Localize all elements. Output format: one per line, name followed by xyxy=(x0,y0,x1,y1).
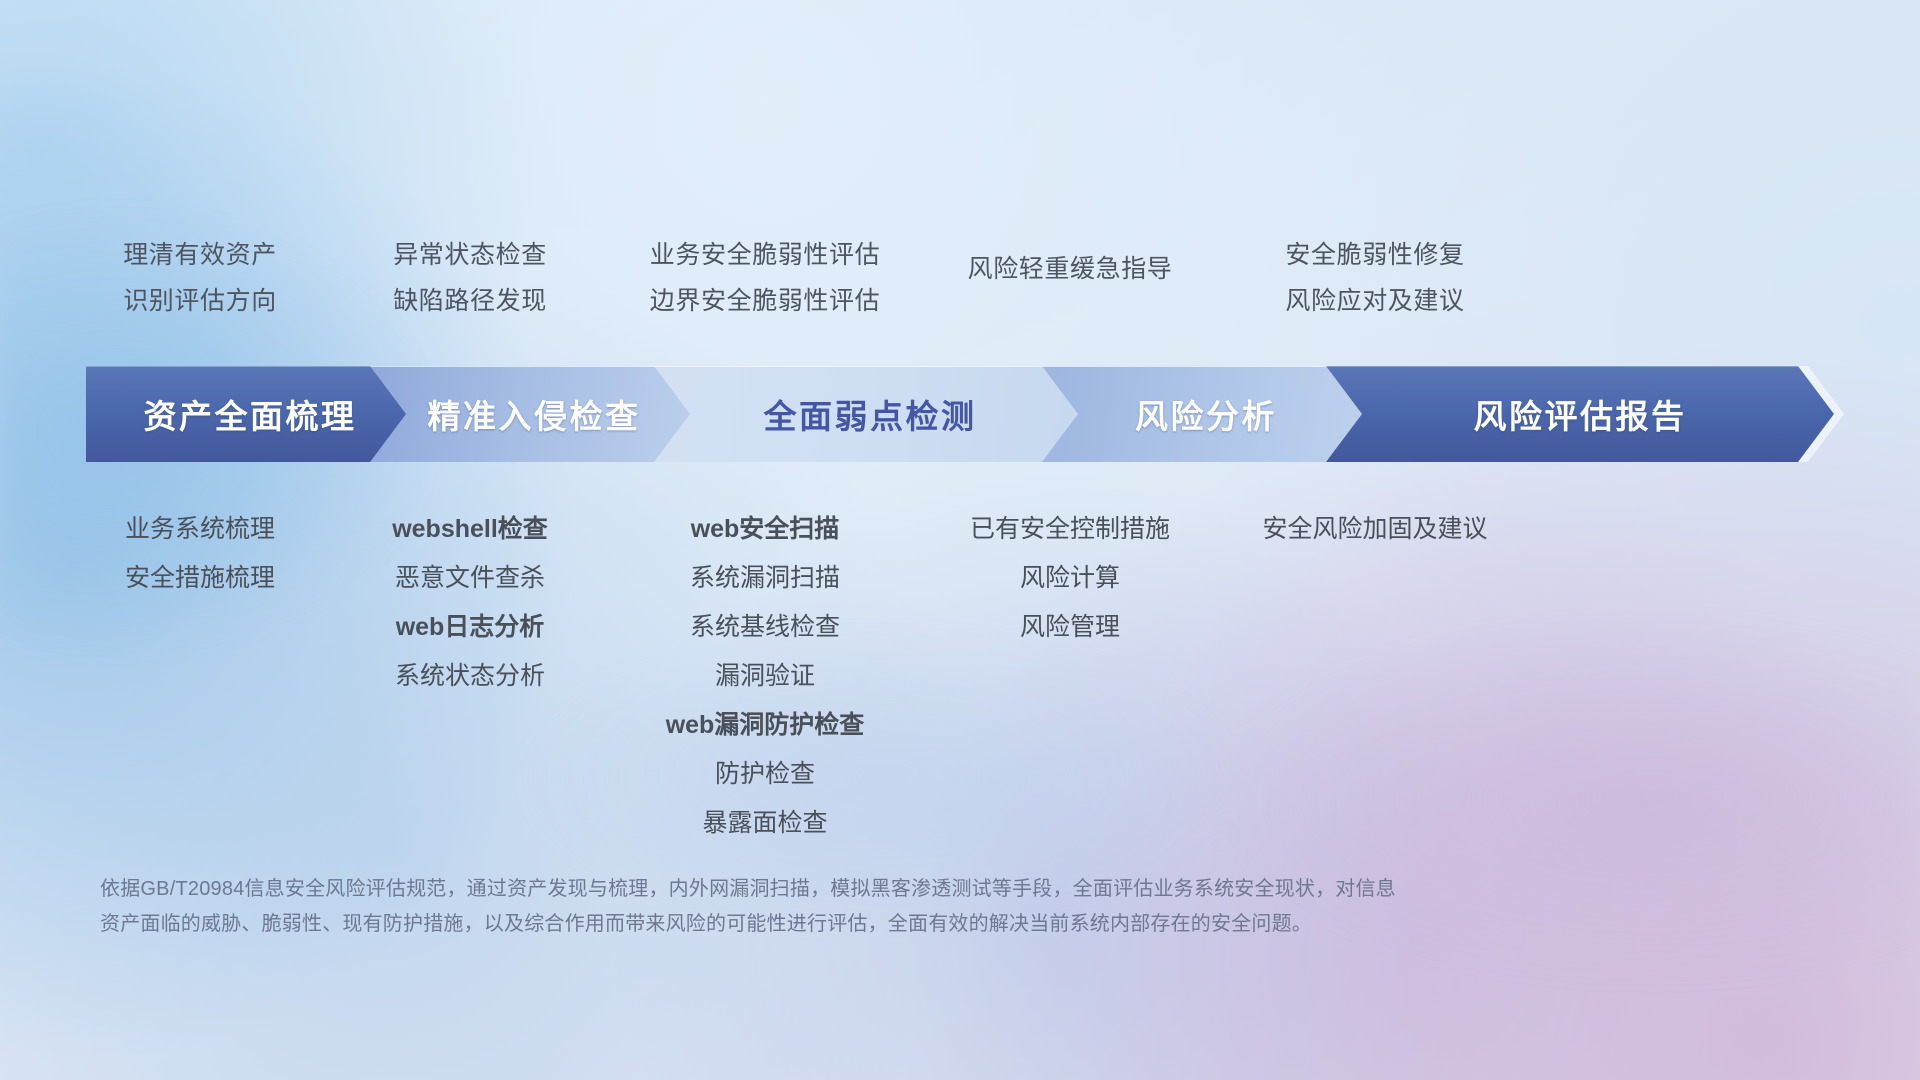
bottom-labels-asset-inventory: 业务系统梳理安全措施梳理 xyxy=(125,505,275,603)
chevron-risk-report[interactable]: 风险评估报告 xyxy=(1326,366,1834,462)
top-label-item: 边界安全脆弱性评估 xyxy=(650,278,880,324)
top-label-item: 风险应对及建议 xyxy=(1285,278,1464,324)
top-labels-intrusion-check: 异常状态检查缺陷路径发现 xyxy=(393,232,547,324)
bottom-label-item: 暴露面检查 xyxy=(666,799,865,848)
bottom-label-item: 业务系统梳理 xyxy=(125,505,275,554)
footer-line-2: 资产面临的威胁、脆弱性、现有防护措施，以及综合作用而带来风险的可能性进行评估，全… xyxy=(100,907,1660,942)
bottom-label-item: 防护检查 xyxy=(666,750,865,799)
chevron-label-intrusion-check: 精准入侵检查 xyxy=(428,390,641,438)
bottom-label-item: 风险计算 xyxy=(970,554,1170,603)
chevron-risk-analysis[interactable]: 风险分析 xyxy=(1042,366,1370,462)
top-label-item: 风险轻重缓急指导 xyxy=(968,246,1173,292)
top-label-item: 识别评估方向 xyxy=(123,278,277,324)
top-label-item: 缺陷路径发现 xyxy=(393,278,547,324)
top-labels-risk-analysis: 风险轻重缓急指导 xyxy=(968,246,1173,292)
bottom-label-item: 安全风险加固及建议 xyxy=(1262,505,1487,554)
chevron-label-risk-report: 风险评估报告 xyxy=(1474,390,1687,438)
top-label-item: 业务安全脆弱性评估 xyxy=(650,232,880,278)
bottom-label-item: web安全扫描 xyxy=(666,505,865,554)
bottom-label-item: 已有安全控制措施 xyxy=(970,505,1170,554)
chevron-intrusion-check[interactable]: 精准入侵检查 xyxy=(370,366,698,462)
footer-line-1: 依据GB/T20984信息安全风险评估规范，通过资产发现与梳理，内外网漏洞扫描，… xyxy=(100,872,1660,907)
bottom-labels-risk-report: 安全风险加固及建议 xyxy=(1262,505,1487,554)
bottom-label-item: 恶意文件查杀 xyxy=(392,554,548,603)
bottom-label-item: 系统基线检查 xyxy=(666,603,865,652)
chevron-label-asset-inventory: 资产全面梳理 xyxy=(144,390,357,438)
process-diagram: 理清有效资产识别评估方向异常状态检查缺陷路径发现业务安全脆弱性评估边界安全脆弱性… xyxy=(0,0,1920,1080)
bottom-label-item: 风险管理 xyxy=(970,603,1170,652)
chevron-weakness-detection[interactable]: 全面弱点检测 xyxy=(654,366,1086,462)
bottom-label-item: 安全措施梳理 xyxy=(125,554,275,603)
top-labels-weakness-detection: 业务安全脆弱性评估边界安全脆弱性评估 xyxy=(650,232,880,324)
chevron-band: 资产全面梳理精准入侵检查全面弱点检测风险分析风险评估报告 xyxy=(0,366,1920,462)
bottom-label-item: web漏洞防护检查 xyxy=(666,701,865,750)
bottom-label-item: 系统状态分析 xyxy=(392,652,548,701)
bottom-label-item: webshell检查 xyxy=(392,505,548,554)
bottom-labels-risk-analysis: 已有安全控制措施风险计算风险管理 xyxy=(970,505,1170,652)
top-label-item: 安全脆弱性修复 xyxy=(1285,232,1464,278)
bottom-label-item: 系统漏洞扫描 xyxy=(666,554,865,603)
footer-description: 依据GB/T20984信息安全风险评估规范，通过资产发现与梳理，内外网漏洞扫描，… xyxy=(100,872,1660,942)
top-label-item: 异常状态检查 xyxy=(393,232,547,278)
top-label-item: 理清有效资产 xyxy=(123,232,277,278)
bottom-labels-intrusion-check: webshell检查恶意文件查杀web日志分析系统状态分析 xyxy=(392,505,548,701)
top-labels-risk-report: 安全脆弱性修复风险应对及建议 xyxy=(1285,232,1464,324)
bottom-labels-weakness-detection: web安全扫描系统漏洞扫描系统基线检查漏洞验证web漏洞防护检查防护检查暴露面检… xyxy=(666,505,865,848)
chevron-label-weakness-detection: 全面弱点检测 xyxy=(764,390,977,438)
bottom-label-item: 漏洞验证 xyxy=(666,652,865,701)
top-labels-asset-inventory: 理清有效资产识别评估方向 xyxy=(123,232,277,324)
chevron-asset-inventory[interactable]: 资产全面梳理 xyxy=(86,366,414,462)
chevron-label-risk-analysis: 风险分析 xyxy=(1135,390,1277,438)
bottom-label-item: web日志分析 xyxy=(392,603,548,652)
